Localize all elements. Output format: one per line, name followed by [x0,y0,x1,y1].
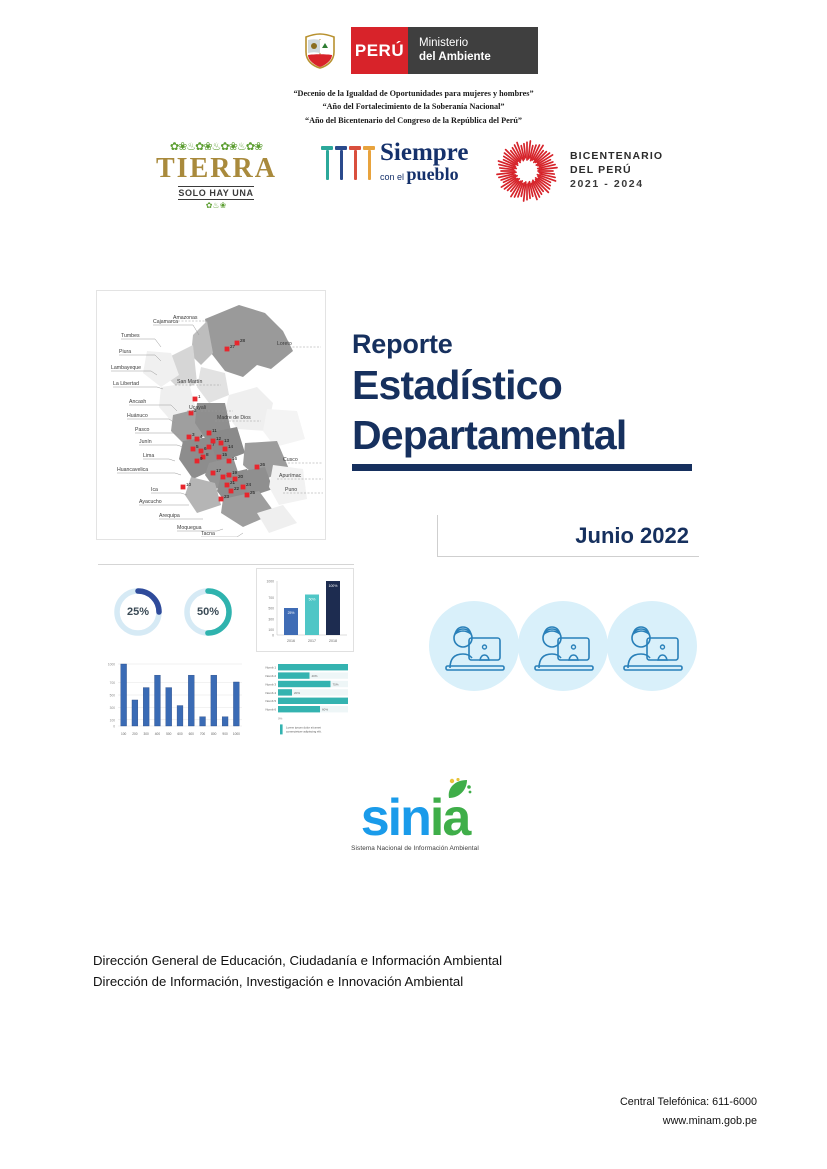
bicentenario-line-2: DEL PERÚ [570,164,663,178]
svg-text:0: 0 [272,634,274,638]
svg-text:San Martín: San Martín [177,379,202,385]
svg-text:8: 8 [206,452,209,457]
ministry-line-2: del Ambiente [419,51,538,64]
svg-text:Moquegua: Moquegua [177,525,202,531]
svg-text:25%: 25% [288,611,295,615]
contact-info: Central Telefónica: 611-6000 www.minam.g… [497,1093,757,1131]
svg-text:2018: 2018 [329,639,337,643]
svg-text:300: 300 [110,706,116,710]
minam-logo-badge: PERÚ Ministerio del Ambiente [289,27,538,74]
sinia-word-blue: sin [361,789,430,847]
svg-text:1000: 1000 [233,732,240,736]
svg-text:Nomb 3: Nomb 3 [265,682,276,686]
svg-text:100: 100 [110,718,116,722]
svg-text:Lima: Lima [143,453,154,459]
svg-text:Ayacucho: Ayacucho [139,499,162,505]
tierra-subtitle: SOLO HAY UNA [178,186,253,200]
svg-text:23: 23 [224,494,230,499]
sinia-wordmark: sinia [361,792,470,844]
svg-text:12: 12 [216,436,222,441]
phone-line: Central Telefónica: 611-6000 [497,1093,757,1112]
donut-label-1: 50% [180,584,236,640]
svg-text:Arequipa: Arequipa [159,513,180,519]
tierra-wordmark: TIERRA [156,155,276,183]
svg-text:500: 500 [268,607,274,611]
workstation-people-icons [428,600,698,692]
bicentenario-years: 2021 - 2024 [570,178,663,192]
bicentenario-logo: BICENTENARIO DEL PERÚ 2021 - 2024 [496,140,686,202]
svg-text:Junín: Junín [139,439,152,445]
svg-text:400: 400 [155,732,161,736]
issuing-offices: Dirección General de Educación, Ciudadan… [93,950,693,993]
svg-text:60%: 60% [322,708,328,712]
svg-text:700: 700 [110,681,116,685]
svg-text:17: 17 [216,468,222,473]
svg-text:1000: 1000 [266,580,274,584]
svg-text:Nomb 5: Nomb 5 [265,699,276,703]
horizontal-bar-chart: Nomb 1Nomb 240%Nomb 375%Nomb 420%Nomb 5N… [256,660,354,746]
bicentenario-line-1: BICENTENARIO [570,150,663,164]
svg-text:Huancavelica: Huancavelica [117,467,148,473]
svg-text:9: 9 [200,456,203,461]
svg-text:0%: 0% [278,716,283,720]
svg-text:Tacna: Tacna [201,531,215,537]
report-date: Junio 2022 [575,523,689,549]
svg-text:Nomb 2: Nomb 2 [265,674,276,678]
campaign-logos-row: ✿❀♨✿❀♨✿❀♨✿❀ TIERRA SOLO HAY UNA ✿♨❀ Siem… [96,140,736,215]
svg-text:Apurímac: Apurímac [279,473,302,479]
svg-text:Nomb 6: Nomb 6 [265,708,276,712]
svg-text:25: 25 [250,490,256,495]
svg-text:2016: 2016 [287,639,295,643]
svg-text:0: 0 [113,725,115,729]
svg-text:28: 28 [240,338,246,343]
report-title-block: Reporte Estadístico Departamental [352,330,697,471]
four-posts-icon [321,146,375,180]
siempre-con-el-pueblo-logo: Siempre con el pueblo [321,140,496,183]
svg-text:16: 16 [232,456,238,461]
svg-text:Amazonas: Amazonas [173,315,198,321]
svg-text:14: 14 [228,444,234,449]
svg-text:11: 11 [212,428,217,433]
svg-text:Madre de Dios: Madre de Dios [217,415,251,421]
svg-text:50%: 50% [309,598,316,602]
svg-text:600: 600 [189,732,195,736]
svg-text:consectetuer adipiscing elit.: consectetuer adipiscing elit. [286,729,322,733]
svg-text:15: 15 [222,452,228,457]
svg-text:100%: 100% [329,584,338,588]
svg-text:20: 20 [238,474,244,479]
svg-text:Ica: Ica [151,487,158,493]
website-link[interactable]: www.minam.gob.pe [497,1112,757,1131]
sinia-logo: sinia Sistema Nacional de Información Am… [330,792,500,852]
infographic-divider [98,564,354,565]
page-title-line-3: Departamental [352,410,697,460]
svg-text:Huánuco: Huánuco [127,413,148,419]
svg-text:19: 19 [232,470,238,475]
svg-text:Loreto: Loreto [277,341,292,347]
svg-text:500: 500 [166,732,172,736]
ministry-line-1: Ministerio [419,37,538,50]
svg-text:900: 900 [222,732,228,736]
svg-text:Pasco: Pasco [135,427,150,433]
svg-text:75%: 75% [333,682,339,686]
svg-text:1: 1 [198,394,201,399]
svg-text:300: 300 [144,732,150,736]
svg-text:Tumbes: Tumbes [121,333,140,339]
official-slogans: “Decenio de la Igualdad de Oportunidades… [0,87,827,127]
foliage-ornament-bottom-icon: ✿♨❀ [156,201,276,211]
bicentenario-burst-icon [496,140,558,202]
svg-text:5: 5 [196,444,199,449]
svg-text:La Libertad: La Libertad [113,381,139,387]
svg-text:Puno: Puno [285,487,297,493]
yearly-bar-chart: 0100300500700100025%201650%2017100%2018 [256,568,354,652]
svg-text:24: 24 [246,482,252,487]
svg-text:800: 800 [211,732,217,736]
peru-coat-of-arms-icon [289,27,351,74]
peru-label: PERÚ [351,27,408,74]
slogan-3: “Año del Bicentenario del Congreso de la… [0,114,827,127]
svg-text:40%: 40% [312,674,318,678]
sinia-leaf-icon [443,778,473,800]
svg-text:13: 13 [224,438,230,443]
tierra-solo-hay-una-logo: ✿❀♨✿❀♨✿❀♨✿❀ TIERRA SOLO HAY UNA ✿♨❀ [156,140,276,211]
donut-label-0: 25% [110,584,166,640]
statistics-infographic: 25% 50% 0100300500700100025%201650%20171… [96,562,356,750]
ministry-label: Ministerio del Ambiente [408,27,538,74]
svg-text:4: 4 [200,434,203,439]
svg-text:500: 500 [110,694,116,698]
svg-text:2017: 2017 [308,639,316,643]
office-line-2: Dirección de Información, Investigación … [93,971,693,992]
svg-text:21: 21 [230,480,236,485]
svg-text:Ancash: Ancash [129,399,146,405]
title-underline-rule [352,464,692,471]
peru-departments-map: 1234567891011121314151617181920212223242… [96,290,326,540]
donut-chart-50: 50% [180,584,236,640]
office-line-1: Dirección General de Educación, Ciudadan… [93,950,693,971]
svg-text:22: 22 [234,486,240,491]
svg-text:Nomb 4: Nomb 4 [265,691,276,695]
svg-text:6: 6 [204,446,207,451]
siempre-con-el: con el [380,172,404,182]
svg-text:200: 200 [132,732,138,736]
svg-text:700: 700 [200,732,206,736]
distribution-bar-chart: 0100300500700100010020030040050060060070… [100,656,248,744]
report-date-box: Junio 2022 [437,515,699,557]
slogan-1: “Decenio de la Igualdad de Oportunidades… [0,87,827,100]
svg-text:3: 3 [192,432,195,437]
page-title-line-2: Estadístico [352,360,697,410]
siempre-pueblo: pueblo [407,164,459,184]
svg-text:1000: 1000 [108,663,115,667]
svg-text:20%: 20% [294,691,300,695]
svg-text:Piura: Piura [119,349,131,355]
svg-text:100: 100 [121,732,127,736]
svg-text:10: 10 [186,482,192,487]
siempre-wordmark: Siempre [380,140,468,165]
svg-text:Cusco: Cusco [283,457,298,463]
svg-text:700: 700 [268,596,274,600]
svg-text:Ucayali: Ucayali [189,405,206,411]
donut-chart-25: 25% [110,584,166,640]
svg-text:600: 600 [177,732,183,736]
svg-text:100: 100 [268,628,274,632]
page-title-kicker: Reporte [352,330,697,360]
svg-text:26: 26 [260,462,266,467]
svg-text:Lambayeque: Lambayeque [111,365,141,371]
svg-text:300: 300 [268,617,274,621]
slogan-2: “Año del Fortalecimiento de la Soberanía… [0,100,827,113]
svg-text:Nomb 1: Nomb 1 [265,666,276,670]
